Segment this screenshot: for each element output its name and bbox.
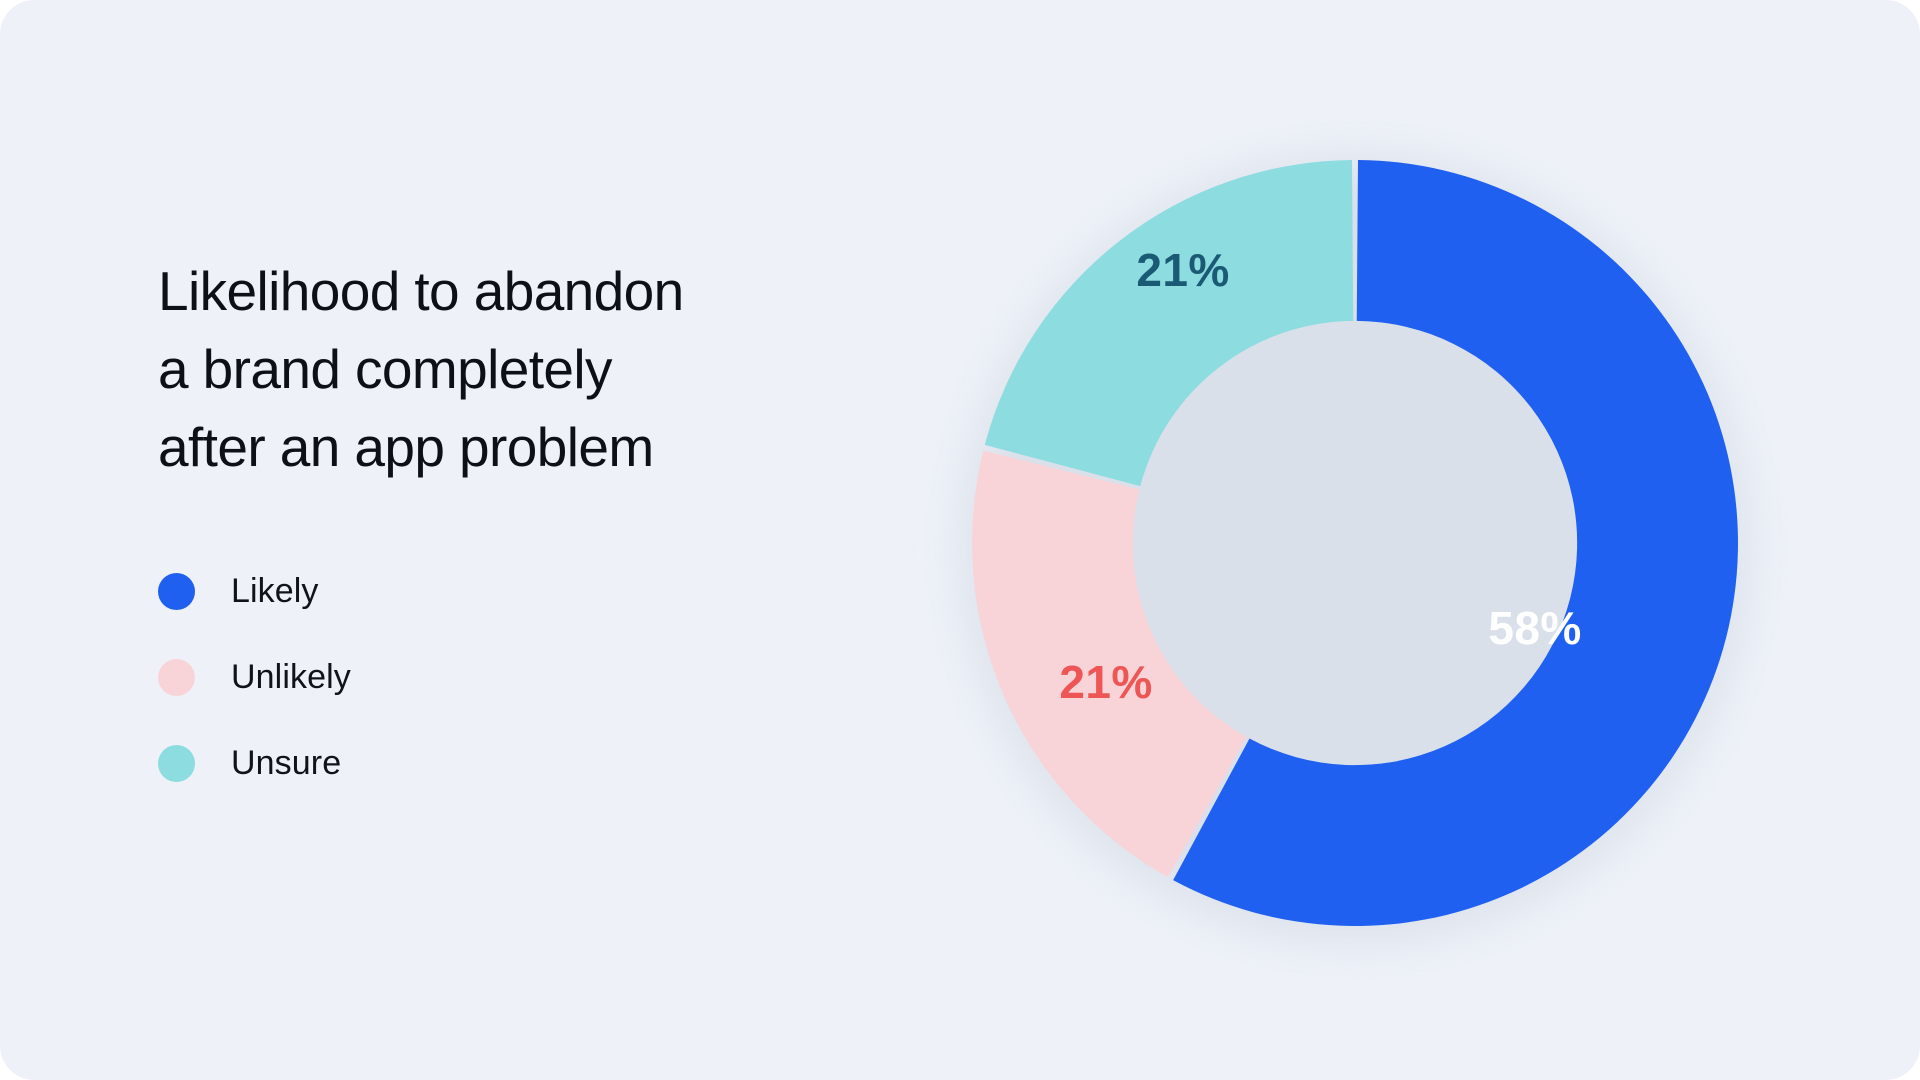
donut-svg [940, 128, 1770, 958]
legend-item-likely[interactable]: Likely [158, 548, 878, 634]
donut-chart: 58% 21% 21% [940, 128, 1770, 958]
donut-label-unsure: 21% [1136, 243, 1229, 297]
infographic-card: Likelihood to abandon a brand completely… [0, 0, 1920, 1080]
donut-slice-unsure[interactable] [985, 160, 1353, 486]
donut-slice-group [972, 160, 1738, 926]
legend-item-unlikely[interactable]: Unlikely [158, 634, 878, 720]
legend-label-likely: Likely [231, 572, 319, 611]
donut-label-likely: 58% [1488, 601, 1581, 655]
legend-label-unsure: Unsure [231, 744, 341, 783]
chart-legend: Likely Unlikely Unsure [158, 548, 878, 806]
chart-title: Likelihood to abandon a brand completely… [158, 252, 878, 486]
legend-swatch-unlikely [158, 659, 195, 696]
legend-swatch-likely [158, 573, 195, 610]
donut-label-unlikely: 21% [1059, 655, 1152, 709]
left-column: Likelihood to abandon a brand completely… [158, 252, 878, 806]
legend-label-unlikely: Unlikely [231, 658, 351, 697]
legend-item-unsure[interactable]: Unsure [158, 720, 878, 806]
legend-swatch-unsure [158, 745, 195, 782]
